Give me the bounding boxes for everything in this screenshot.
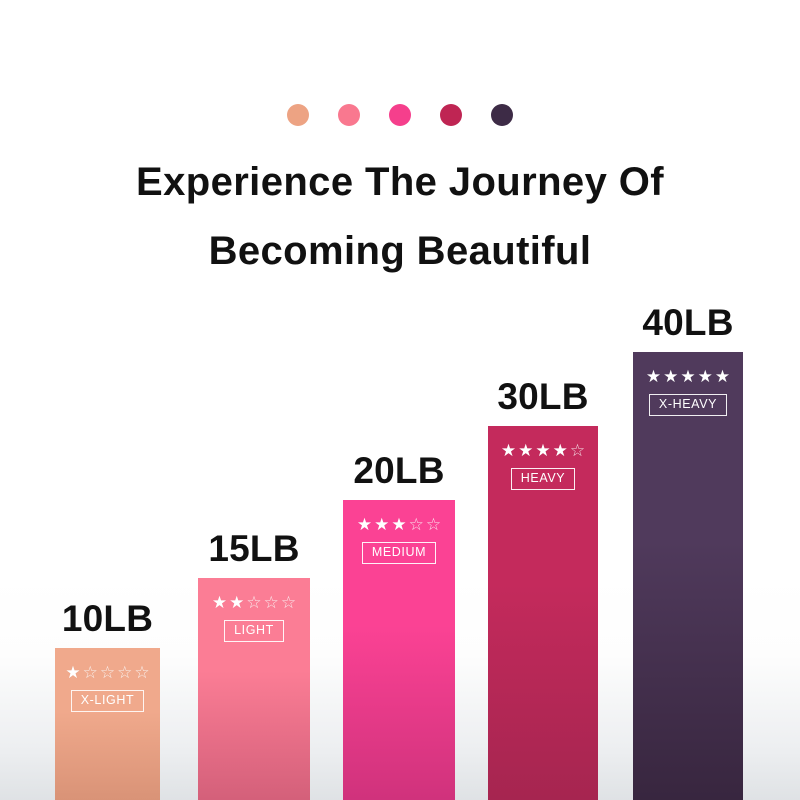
- bar-value-label: 20LB: [329, 450, 469, 492]
- bar-value-label: 40LB: [619, 302, 757, 344]
- star-empty-icon: ☆: [117, 664, 132, 681]
- bar-value-label: 30LB: [474, 376, 612, 418]
- star-filled-icon: ★: [680, 368, 695, 385]
- headline-line-1: Experience The Journey Of: [0, 148, 800, 217]
- dot-medium: [389, 104, 411, 126]
- dot-heavy: [440, 104, 462, 126]
- star-filled-icon: ★: [535, 442, 550, 459]
- level-badge: MEDIUM: [362, 542, 436, 564]
- star-filled-icon: ★: [518, 442, 533, 459]
- level-badge: X-LIGHT: [71, 690, 145, 712]
- star-empty-icon: ☆: [83, 664, 98, 681]
- star-filled-icon: ★: [646, 368, 661, 385]
- star-filled-icon: ★: [229, 594, 244, 611]
- page-title: Experience The Journey Of Becoming Beaut…: [0, 148, 800, 286]
- dot-x-light: [287, 104, 309, 126]
- star-filled-icon: ★: [553, 442, 568, 459]
- star-filled-icon: ★: [212, 594, 227, 611]
- star-empty-icon: ☆: [134, 664, 149, 681]
- level-badge: LIGHT: [224, 620, 284, 642]
- star-rating: ★★☆☆☆: [212, 594, 296, 611]
- bar-value-label: 15LB: [184, 528, 324, 570]
- star-empty-icon: ☆: [100, 664, 115, 681]
- resistance-band-poster: Experience The Journey Of Becoming Beaut…: [0, 0, 800, 800]
- bar-fill: ★★★☆☆MEDIUM: [343, 500, 455, 800]
- star-filled-icon: ★: [374, 516, 389, 533]
- star-filled-icon: ★: [357, 516, 372, 533]
- star-filled-icon: ★: [391, 516, 406, 533]
- star-filled-icon: ★: [698, 368, 713, 385]
- star-empty-icon: ☆: [570, 442, 585, 459]
- bar-content: ★★★★☆HEAVY: [488, 426, 598, 490]
- star-empty-icon: ☆: [281, 594, 296, 611]
- star-rating: ★★★★☆: [501, 442, 585, 459]
- star-empty-icon: ☆: [409, 516, 424, 533]
- star-filled-icon: ★: [501, 442, 516, 459]
- level-badge: HEAVY: [511, 468, 575, 490]
- star-rating: ★★★★★: [646, 368, 730, 385]
- bar-value-label: 10LB: [41, 598, 174, 640]
- resistance-bar-chart: 10LB★☆☆☆☆X-LIGHT15LB★★☆☆☆LIGHT20LB★★★☆☆M…: [0, 280, 800, 800]
- bar-content: ★★☆☆☆LIGHT: [198, 578, 310, 642]
- star-filled-icon: ★: [65, 664, 80, 681]
- star-empty-icon: ☆: [246, 594, 261, 611]
- bar-fill: ★★★★☆HEAVY: [488, 426, 598, 800]
- star-empty-icon: ☆: [426, 516, 441, 533]
- star-filled-icon: ★: [663, 368, 678, 385]
- bar-fill: ★☆☆☆☆X-LIGHT: [55, 648, 160, 800]
- star-empty-icon: ☆: [264, 594, 279, 611]
- bar-fill: ★★☆☆☆LIGHT: [198, 578, 310, 800]
- bar-content: ★★★★★X-HEAVY: [633, 352, 743, 416]
- level-badge: X-HEAVY: [649, 394, 727, 416]
- bar-fill: ★★★★★X-HEAVY: [633, 352, 743, 800]
- star-filled-icon: ★: [715, 368, 730, 385]
- bar-content: ★★★☆☆MEDIUM: [343, 500, 455, 564]
- headline-line-2: Becoming Beautiful: [0, 217, 800, 286]
- dot-light: [338, 104, 360, 126]
- dot-x-heavy: [491, 104, 513, 126]
- bar-content: ★☆☆☆☆X-LIGHT: [55, 648, 160, 712]
- star-rating: ★☆☆☆☆: [65, 664, 149, 681]
- star-rating: ★★★☆☆: [357, 516, 441, 533]
- color-swatch-row: [0, 104, 800, 126]
